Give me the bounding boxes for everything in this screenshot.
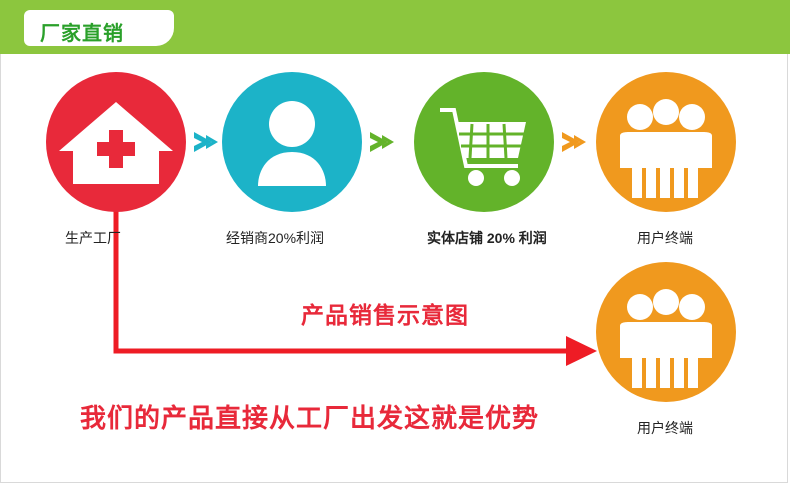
node-label-factory: 生产工厂 xyxy=(65,228,121,248)
people-group-icon xyxy=(596,72,736,212)
node-label-store: 实体店铺 20% 利润 xyxy=(427,228,547,248)
node-label-user-terminal-2: 用户终端 xyxy=(637,418,693,438)
node-factory xyxy=(46,72,186,212)
header-title: 厂家直销 xyxy=(40,17,124,46)
person-icon xyxy=(222,72,362,212)
arrow-dealer-to-store xyxy=(368,128,396,156)
house-with-cross-icon xyxy=(46,72,186,212)
people-group-icon xyxy=(596,262,736,402)
slogan-text: 我们的产品直接从工厂出发这就是优势 xyxy=(80,398,539,435)
arrow-store-to-user xyxy=(560,128,588,156)
diagram-caption: 产品销售示意图 xyxy=(301,296,469,330)
diagram-page: 厂家直销 生产工厂 经销商20%利润 xyxy=(0,0,790,485)
arrow-factory-to-dealer xyxy=(192,128,220,156)
node-user-terminal-2 xyxy=(596,262,736,402)
node-user-terminal-1 xyxy=(596,72,736,212)
shopping-cart-icon xyxy=(414,72,554,212)
header-bar: 厂家直销 xyxy=(0,0,790,54)
node-store xyxy=(414,72,554,212)
node-label-user-terminal-1: 用户终端 xyxy=(637,228,693,248)
node-label-dealer: 经销商20%利润 xyxy=(226,228,324,248)
node-dealer xyxy=(222,72,362,212)
